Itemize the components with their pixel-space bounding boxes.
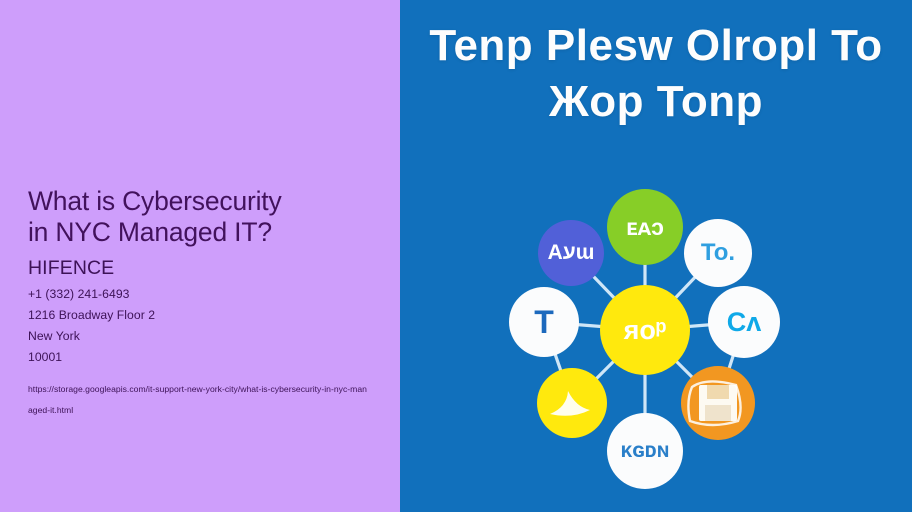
address-city: New York [28, 326, 376, 347]
diagram-nodes [509, 189, 780, 489]
address-zip: 10001 [28, 347, 376, 368]
diagram-node-hub-center[interactable] [600, 285, 690, 375]
diagram-node-node-white-upper-right[interactable] [684, 219, 752, 287]
left-info-panel: What is Cybersecurity in NYC Managed IT?… [0, 0, 400, 512]
phone-number: +1 (332) 241-6493 [28, 284, 376, 305]
source-url-link[interactable]: https://storage.googleapis.com/it-suppor… [28, 379, 368, 419]
address-street: 1216 Broadway Floor 2 [28, 305, 376, 326]
hub-and-spoke-diagram: ᴙoᵖᴇᴀᴐAעɯTo.TCʌᴋɢᴅɴ [400, 150, 912, 512]
diagram-node-node-green-top[interactable] [607, 189, 683, 265]
hero-heading: Tenp Plesw Olropl To Жop Tonp [400, 18, 912, 131]
diagram-node-node-white-right[interactable] [708, 286, 780, 358]
diagram-node-node-purple-upper-left[interactable] [538, 220, 604, 286]
left-content-block: What is Cybersecurity in NYC Managed IT?… [28, 186, 376, 420]
diagram-node-node-white-left[interactable] [509, 287, 579, 357]
diagram-canvas [400, 150, 912, 512]
page-title: What is Cybersecurity in NYC Managed IT? [28, 186, 376, 248]
right-visual-panel: Tenp Plesw Olropl To Жop Tonp ᴙoᵖᴇᴀᴐAעɯT… [400, 0, 912, 512]
promo-card: What is Cybersecurity in NYC Managed IT?… [0, 0, 912, 512]
diagram-node-node-white-bottom[interactable] [607, 413, 683, 489]
brand-name: HIFENCE [28, 257, 376, 280]
